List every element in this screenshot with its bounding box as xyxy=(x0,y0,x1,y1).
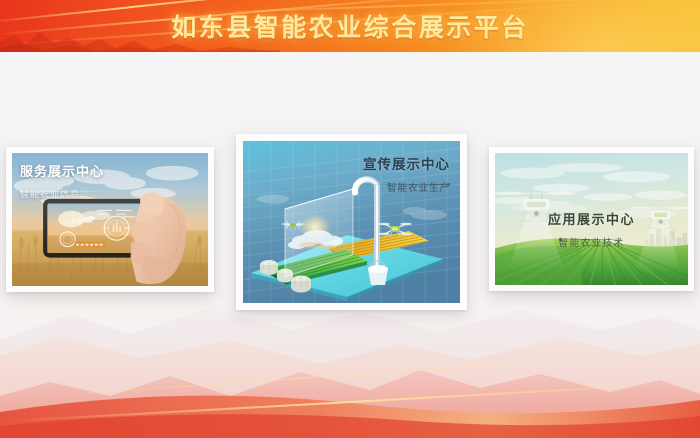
card-2-title: 宣传展示中心 xyxy=(361,153,450,173)
card-inner: 应用展示中心 智能农业技术 xyxy=(495,153,688,285)
card-service-display-center[interactable]: 28° xyxy=(6,147,214,292)
card-inner: 宣传展示中心 智能农业生产 xyxy=(243,141,460,303)
card-3-title: 应用展示中心 xyxy=(495,209,688,228)
card-3-subtitle: 智能农业技术 xyxy=(495,235,688,249)
card-3-text-block: 应用展示中心 智能农业技术 xyxy=(495,209,688,249)
card-2-text-block: 宣传展示中心 智能农业生产 xyxy=(361,153,450,194)
card-1-text-block: 服务展示中心 智能农业信息 xyxy=(20,161,111,200)
card-publicity-display-center[interactable]: 宣传展示中心 智能农业生产 xyxy=(236,134,467,310)
page-root: 如东县智能农业综合展示平台 xyxy=(0,0,700,438)
page-title: 如东县智能农业综合展示平台 xyxy=(0,0,700,52)
card-2-divider xyxy=(361,176,450,177)
card-2-subtitle: 智能农业生产 xyxy=(361,180,450,194)
card-3-divider xyxy=(495,231,688,232)
card-application-display-center[interactable]: 应用展示中心 智能农业技术 xyxy=(489,147,694,291)
header-banner: 如东县智能农业综合展示平台 xyxy=(0,0,700,52)
card-1-subtitle: 智能农业信息 xyxy=(20,187,111,200)
background-mountains xyxy=(0,300,700,438)
card-inner: 28° xyxy=(12,153,208,286)
card-1-divider xyxy=(20,183,111,184)
card-1-title: 服务展示中心 xyxy=(20,161,111,180)
